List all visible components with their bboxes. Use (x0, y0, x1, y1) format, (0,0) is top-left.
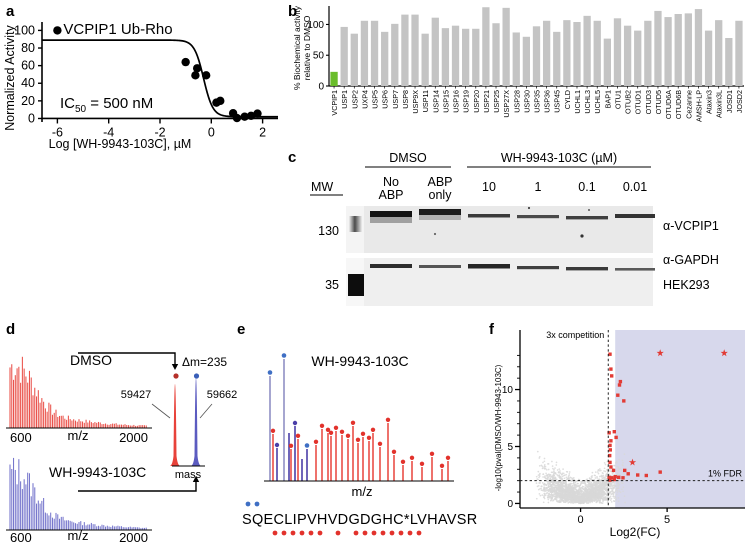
panel-b-tick-label: JOSD2 (735, 90, 744, 113)
panel-b-bar (341, 27, 348, 86)
panel-c-lane-label: No (383, 175, 399, 189)
panel-b-bar (492, 23, 499, 86)
panel-b-tick-label: USP35 (533, 90, 542, 113)
panel-b-bar (513, 32, 520, 86)
panel-b-tick-label: Ataxin3L (715, 90, 724, 118)
svg-text:0: 0 (28, 111, 35, 125)
panel-b-tick-label: USP11 (421, 90, 430, 112)
svg-text:100: 100 (14, 23, 35, 37)
panel-f-hit-point (609, 465, 612, 468)
panel-b-tick-label: OTUB2 (624, 90, 633, 114)
svg-text:20: 20 (21, 94, 35, 108)
svg-text:80: 80 (21, 41, 35, 55)
panel-f-hit-point (659, 470, 662, 473)
panel-b-bar (482, 7, 489, 86)
panel-d-mass-axis-label: mass (175, 469, 202, 481)
panel-a-data-point (202, 71, 210, 79)
svg-text:0: 0 (208, 125, 215, 139)
panel-b-tick-label: USP8 (401, 90, 410, 109)
panel-d-top-axis-max: 2000 (119, 430, 148, 445)
panel-e-title: WH-9943-103C (311, 353, 408, 369)
panel-d-top-axis-label: m/z (68, 428, 89, 443)
panel-f-hit-point (609, 367, 612, 370)
panel-c-blot-label: α-VCPIP1 (663, 219, 719, 233)
svg-text:100: 100 (307, 20, 324, 31)
panel-b-bar (715, 20, 722, 86)
panel-e-spectrum: WH-9943-103C m/z SQECLIPVHVDGDGHC*LVHAVS… (232, 318, 482, 542)
svg-text:5: 5 (507, 442, 513, 453)
panel-f-ylabel: -log10(pval(DMSO/WH-9943-103C) (494, 364, 503, 491)
panel-b-bar (462, 29, 469, 86)
panel-d-bottom-label: WH-9943-103C (49, 464, 146, 480)
panel-c-mw-label: MW (311, 180, 333, 194)
svg-text:2: 2 (259, 125, 266, 139)
svg-text:60: 60 (21, 59, 35, 73)
panel-b-bar (472, 29, 479, 86)
panel-c-blot-label: α-GAPDH (663, 253, 719, 267)
panel-f-hit-point (612, 469, 615, 472)
panel-b-tick-label: USP6 (381, 90, 390, 109)
panel-f-hit-point (610, 374, 613, 377)
panel-f-competition-annotation: 3x competition (546, 330, 604, 340)
panel-b-tick-label: UXP4 (360, 90, 369, 109)
panel-b-tick-label: JOSD1 (725, 90, 734, 113)
panel-b-tick-label: AMSH-LP (694, 90, 703, 122)
panel-c-blot: DMSO WH-9943-103C (µM) MW NoABPABPonly10… (289, 148, 749, 318)
panel-b-tick-label: VCPIP1 (330, 90, 339, 116)
panel-d-bottom-axis-max: 2000 (119, 530, 148, 542)
panel-b-tick-label: BAP1 (603, 90, 612, 108)
panel-b-bar (422, 34, 429, 86)
panel-b-tick-label: USP20 (472, 90, 481, 113)
panel-b-bar (533, 26, 540, 86)
panel-a-ylabel: Normalized Activity (3, 24, 17, 130)
panel-a-data-point (53, 26, 61, 34)
panel-f-hit-point (623, 469, 626, 472)
panel-b-bar (411, 15, 418, 86)
panel-c-lane-label: ABP (378, 188, 403, 202)
panel-d-delta-label: Δm=235 (182, 355, 227, 369)
panel-b-bar (634, 31, 641, 86)
panel-b-tick-label: USP21 (482, 90, 491, 113)
panel-f-hit-point (627, 472, 630, 475)
panel-a-data-point (193, 64, 201, 72)
panel-c-mw-tick: 130 (318, 224, 339, 238)
panel-b-tick-label: USP30 (522, 90, 531, 113)
panel-b-bar (330, 72, 337, 86)
panel-b-bar (401, 15, 408, 86)
panel-c-lane-label: 1 (535, 180, 542, 194)
svg-text:0: 0 (318, 82, 324, 93)
panel-b-tick-label: UCHL1 (573, 90, 582, 114)
panel-b-bar (614, 18, 621, 86)
panel-a-ic50-annotation: IC50 = 500 nM (60, 95, 153, 115)
panel-b-tick-label: OTU1 (613, 90, 622, 109)
panel-f-hit-point (636, 473, 639, 476)
panel-b-tick-label: UCHL3 (583, 90, 592, 114)
panel-f-hit-point (608, 478, 611, 481)
panel-e-axis-label: m/z (352, 484, 373, 499)
svg-text:0: 0 (507, 499, 513, 510)
panel-c-lane-label: 0.1 (578, 180, 595, 194)
panel-d-mass-red: 59427 (121, 389, 152, 401)
panel-b-bar (361, 21, 368, 86)
svg-text:50: 50 (313, 51, 325, 62)
panel-b-bar (735, 21, 742, 86)
svg-text:10: 10 (502, 385, 514, 396)
panel-b-bar (685, 13, 692, 86)
panel-d-top-label: DMSO (70, 352, 112, 368)
panel-b-tick-label: USP5 (371, 90, 380, 109)
panel-b-tick-label: USP19 (462, 90, 471, 113)
panel-c-mw-tick: 35 (325, 278, 339, 292)
panel-b-tick-label: OTUD1 (634, 90, 643, 114)
panel-b-tick-label: USP28 (512, 90, 521, 113)
panel-b-bar (452, 26, 459, 86)
panel-b-tick-label: USP14 (431, 90, 440, 113)
panel-b-tick-label: OTUD6A (664, 90, 673, 119)
panel-d-bottom-axis-min: 600 (10, 530, 32, 542)
panel-b-bar (563, 20, 570, 86)
panel-b-tick-label: OTUD6B (674, 90, 683, 119)
panel-f-hit-point (608, 353, 611, 356)
panel-a-chart: 020406080100-6-4-202 VCPIP1 Ub-Rho IC50 … (0, 0, 290, 152)
panel-f-hit-point (621, 476, 624, 479)
panel-f-hit-point (614, 436, 617, 439)
panel-f-hit-point (616, 394, 619, 397)
panel-b-bar (725, 38, 732, 86)
panel-b-tick-label: OTUD3 (644, 90, 653, 114)
panel-a-data-point (253, 109, 261, 117)
panel-f-hit-point (608, 461, 611, 464)
panel-b-bar (523, 37, 530, 86)
panel-b-bar (371, 21, 378, 86)
panel-b-bar (553, 32, 560, 86)
panel-c-lane-label: 0.01 (623, 180, 647, 194)
panel-d-top-axis-min: 600 (10, 430, 32, 445)
panel-b-tick-label: USP15 (441, 90, 450, 113)
panel-c-lane-label: only (429, 188, 453, 202)
panel-b-bar (583, 16, 590, 86)
panel-b-tick-label: USP9X (411, 90, 420, 114)
panel-a-data-point (216, 97, 224, 105)
panel-b-tick-label: USP7 (391, 90, 400, 109)
panel-b-ylabel-line1: % Biochemical activity (292, 5, 302, 90)
panel-c-lane-label: 10 (482, 180, 496, 194)
svg-text:40: 40 (21, 76, 35, 90)
panel-f-hit-point (622, 399, 625, 402)
panel-b-bar (675, 14, 682, 86)
panel-b-tick-label: Ataxin3 (705, 90, 714, 114)
panel-f-hit-point (608, 444, 611, 447)
panel-f-volcano: -log10(pval(DMSO/WH-9943-103C) 051005 3x… (487, 318, 749, 542)
panel-b-bar (644, 21, 651, 86)
panel-b-bar (543, 21, 550, 86)
panel-b-tick-label: USP45 (553, 90, 562, 113)
svg-text:0: 0 (578, 514, 584, 526)
panel-b-bar (654, 11, 661, 86)
panel-b-tick-label: UCHL5 (593, 90, 602, 114)
panel-f-hit-point (617, 476, 620, 479)
panel-b-bar (351, 34, 358, 86)
panel-b-bar (432, 18, 439, 86)
panel-b-tick-label: USP27X (502, 90, 511, 118)
panel-a-xlabel: Log [WH-9943-103C], µM (49, 137, 192, 151)
panel-b-bar (381, 32, 388, 86)
panel-b-bar (664, 17, 671, 86)
panel-e-peptide-sequence: SQECLIPVHVDGDGHC*LVHAVSR (242, 512, 478, 528)
panel-c-group-dmso: DMSO (389, 151, 427, 165)
panel-b-tick-label: CYLD (563, 90, 572, 109)
panel-a-data-point (181, 58, 189, 66)
panel-b-bar (705, 31, 712, 86)
panel-d-mass-spec: DMSO WH-9943-103C Δm=235 mass 59427 5966… (0, 318, 245, 542)
panel-b-bar (624, 26, 631, 86)
panel-c-blot-label: HEK293 (663, 278, 710, 292)
panel-a-title: VCPIP1 Ub-Rho (63, 21, 172, 38)
panel-f-fdr-annotation: 1% FDR (708, 469, 743, 479)
panel-b-bar (604, 39, 611, 86)
panel-b-bar (573, 22, 580, 86)
panel-b-bar (695, 9, 702, 86)
panel-b-bar (594, 21, 601, 86)
panel-b-tick-label: USP25 (492, 90, 501, 113)
svg-text:5: 5 (664, 514, 670, 526)
panel-c-lane-label: ABP (427, 175, 452, 189)
panel-f-hit-point (609, 439, 612, 442)
panel-b-chart: % Biochemical activity relative to DMSO … (289, 0, 749, 140)
panel-a-data-point (233, 114, 241, 122)
panel-b-bar (442, 28, 449, 86)
panel-f-hit-point (645, 474, 648, 477)
panel-b-tick-label: USP16 (452, 90, 461, 113)
panel-b-bar (391, 24, 398, 86)
panel-f-xlabel: Log2(FC) (610, 525, 661, 539)
panel-b-tick-label: Cezanne (684, 90, 693, 119)
panel-b-tick-label: USP36 (543, 90, 552, 113)
panel-d-bottom-axis-label: m/z (68, 528, 89, 542)
panel-a-data-point (191, 71, 199, 79)
panel-b-tick-label: OTUD5 (654, 90, 663, 114)
panel-b-tick-label: USP2 (350, 90, 359, 109)
panel-b-tick-label: USP1 (340, 90, 349, 109)
panel-f-hit-point (618, 383, 621, 386)
panel-b-bar (502, 8, 509, 86)
panel-c-group-compound: WH-9943-103C (µM) (501, 151, 617, 165)
panel-f-hit-point (609, 448, 612, 451)
panel-f-hit-point (613, 430, 616, 433)
panel-f-hit-point (619, 380, 622, 383)
